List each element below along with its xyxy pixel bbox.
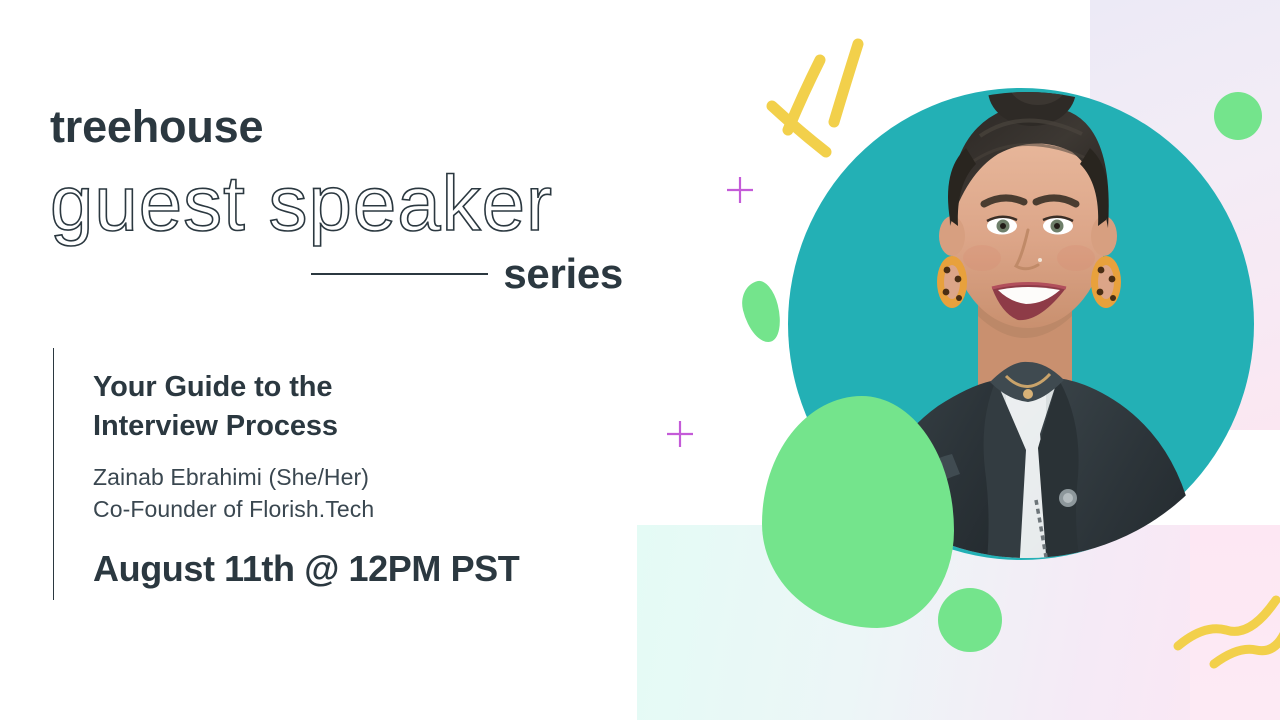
promo-graphic: treehouse guest speaker series Your Guid… [0, 0, 1280, 720]
plus-mark-icon-upper [726, 176, 754, 204]
sparkle-strokes-icon [750, 30, 880, 170]
wave-strokes-icon [1170, 580, 1280, 670]
series-divider-rule [311, 273, 488, 275]
talk-title: Your Guide to the Interview Process [93, 368, 519, 445]
brand-wordmark: treehouse [50, 104, 660, 149]
speaker-role: Co-Founder of Florish.Tech [93, 494, 519, 526]
headline-block: treehouse guest speaker series [50, 104, 660, 295]
speaker-name: Zainab Ebrahimi (She/Her) [93, 462, 519, 494]
talk-title-line-1: Your Guide to the [93, 368, 519, 407]
talk-title-line-2: Interview Process [93, 407, 519, 446]
series-outline-title: guest speaker [50, 161, 660, 245]
green-circle-bottom [938, 588, 1002, 652]
event-datetime: August 11th @ 12PM PST [93, 551, 519, 587]
event-detail-block: Your Guide to the Interview Process Zain… [53, 348, 519, 600]
green-blob-small [737, 278, 786, 347]
series-row: series [50, 253, 623, 295]
series-label: series [503, 253, 623, 295]
plus-mark-icon-lower [666, 420, 694, 448]
